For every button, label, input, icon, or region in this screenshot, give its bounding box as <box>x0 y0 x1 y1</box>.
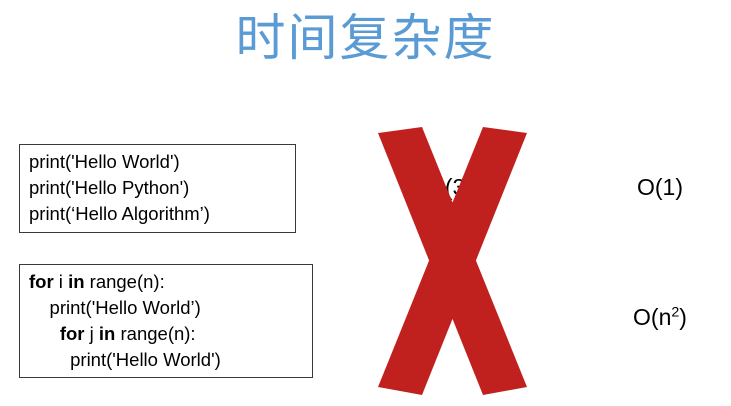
red-x-mark-icon <box>370 125 535 400</box>
code-block-nested-loop: for i in range(n): print('Hello World’) … <box>19 264 313 378</box>
page-title: 时间复杂度 <box>0 6 731 70</box>
range-call: range(n): <box>85 271 165 292</box>
struck-complexity-nested-suffix: +n) <box>456 304 490 330</box>
struck-complexity-nested-exponent: 2 <box>448 304 456 320</box>
keyword-in: in <box>99 323 115 344</box>
code-line: print('Hello World') <box>29 347 312 373</box>
code-line: for i in range(n): <box>29 269 312 295</box>
loop-var: j <box>85 323 99 344</box>
code-line: print('Hello Python') <box>29 175 295 201</box>
final-complexity-nested-suffix: ) <box>679 304 687 330</box>
struck-complexity-nested-prefix: O(n <box>410 304 448 330</box>
keyword-in: in <box>68 271 84 292</box>
range-call: range(n): <box>115 323 195 344</box>
keyword-for: for <box>29 271 54 292</box>
code-line: for j in range(n): <box>29 321 312 347</box>
final-complexity-nested: O(n2) <box>600 302 720 332</box>
final-complexity-simple: O(1) <box>600 172 720 202</box>
struck-complexity-simple: O(3) <box>390 172 510 202</box>
loop-var: i <box>54 271 68 292</box>
code-line: print(‘Hello Algorithm’) <box>29 201 295 227</box>
code-block-simple: print('Hello World') print('Hello Python… <box>19 144 296 233</box>
final-complexity-nested-prefix: O(n <box>633 304 671 330</box>
code-line: print('Hello World') <box>29 149 295 175</box>
code-line: print('Hello World’) <box>29 295 312 321</box>
slide-canvas: 时间复杂度 print('Hello World') print('Hello … <box>0 0 731 406</box>
struck-complexity-nested: O(n2+n) <box>380 302 520 332</box>
keyword-for: for <box>60 323 85 344</box>
indent <box>29 323 60 344</box>
